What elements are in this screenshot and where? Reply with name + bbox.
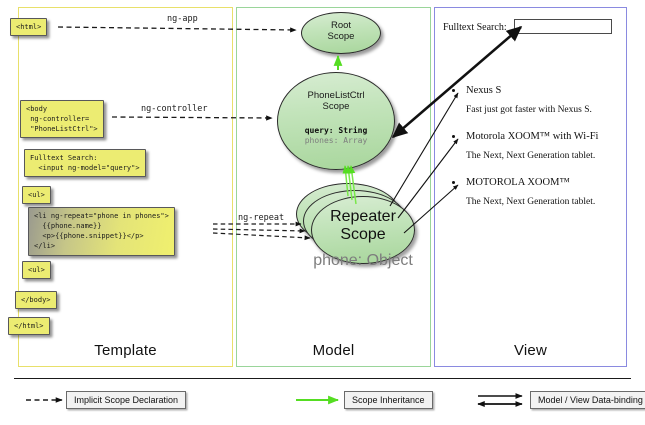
view-item-name: Nexus S xyxy=(466,85,592,96)
legend-label: Model / View Data-binding xyxy=(530,391,645,409)
repeater-scope-node: Repeater Scope phone: Object xyxy=(311,196,415,264)
ctrl-scope-title-2: Scope xyxy=(278,102,394,113)
view-list-item: Motorola XOOM™ with Wi-Fi The Next, Next… xyxy=(452,131,598,161)
code-box-body-open: <body ng-controller= "PhoneListCtrl"> xyxy=(20,100,104,138)
panel-template-label: Template xyxy=(19,342,232,359)
root-scope-title-2: Scope xyxy=(302,32,380,43)
code-box-html-close: </html> xyxy=(8,317,50,335)
view-item-name: Motorola XOOM™ with Wi-Fi xyxy=(466,131,598,142)
panel-model-label: Model xyxy=(237,342,430,359)
repeater-scope-title-2: Scope xyxy=(312,226,414,244)
legend-label: Implicit Scope Declaration xyxy=(66,391,186,409)
code-box-ul-open: <ul> xyxy=(22,186,51,204)
code-box-body-close: </body> xyxy=(15,291,57,309)
panel-view-label: View xyxy=(435,342,626,359)
edge-label-ng-repeat: ng-repeat xyxy=(238,213,284,223)
diagram-canvas: Template Model View <html> <body ng-cont… xyxy=(0,0,645,425)
view-item-snippet: The Next, Next Generation tablet. xyxy=(466,151,598,161)
ctrl-scope-prop-query: query: String xyxy=(278,126,394,136)
legend-label: Scope Inheritance xyxy=(344,391,433,409)
code-box-search: Fulltext Search: <input ng-model="query"… xyxy=(24,149,146,177)
repeater-scope-title-1: Repeater xyxy=(312,208,414,226)
view-search-label: Fulltext Search: xyxy=(443,22,507,33)
view-item-snippet: Fast just got faster with Nexus S. xyxy=(466,105,592,115)
bullet-icon xyxy=(452,181,455,184)
bullet-icon xyxy=(452,135,455,138)
view-search-input[interactable] xyxy=(514,19,612,34)
edge-label-ng-controller: ng-controller xyxy=(141,104,208,114)
repeater-scope-prop-phone: phone: Object xyxy=(312,252,414,270)
phonelistctrl-scope-node: PhoneListCtrl Scope query: String phones… xyxy=(277,72,395,170)
legend-divider xyxy=(14,378,631,379)
view-list-item: MOTOROLA XOOM™ The Next, Next Generation… xyxy=(452,177,595,207)
view-item-name: MOTOROLA XOOM™ xyxy=(466,177,595,188)
ctrl-scope-prop-phones: phones: Array xyxy=(278,136,394,146)
edge-label-ng-app: ng-app xyxy=(167,14,198,24)
code-box-li-repeat: <li ng-repeat="phone in phones"> {{phone… xyxy=(28,207,175,256)
view-item-snippet: The Next, Next Generation tablet. xyxy=(466,197,595,207)
code-box-html-open: <html> xyxy=(10,18,47,36)
code-box-ul-close: <ul> xyxy=(22,261,51,279)
bullet-icon xyxy=(452,89,455,92)
view-list-item: Nexus S Fast just got faster with Nexus … xyxy=(452,85,592,115)
root-scope-node: Root Scope xyxy=(301,12,381,54)
